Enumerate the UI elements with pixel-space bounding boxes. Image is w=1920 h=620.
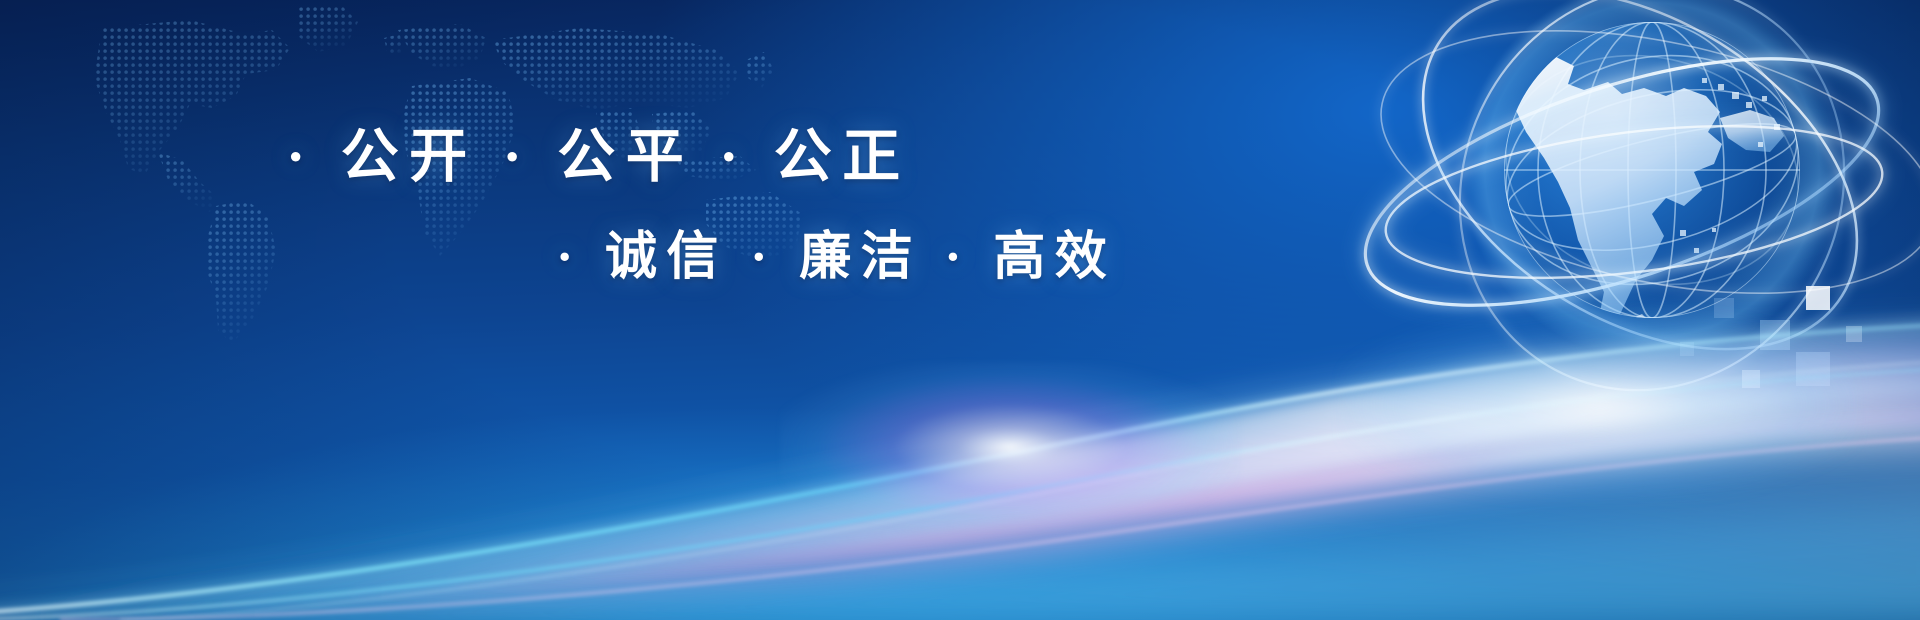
light-wave-ribbons [0, 290, 1920, 620]
slogan-line-1: · 公开 · 公平 · 公正 [0, 128, 1060, 186]
slogan-line-2: · 诚信 · 廉洁 · 高效 [0, 232, 1060, 284]
banner-root: · 公开 · 公平 · 公正 · 诚信 · 廉洁 · 高效 [0, 0, 1920, 620]
slogan-block: · 公开 · 公平 · 公正 · 诚信 · 廉洁 · 高效 [0, 128, 1060, 284]
